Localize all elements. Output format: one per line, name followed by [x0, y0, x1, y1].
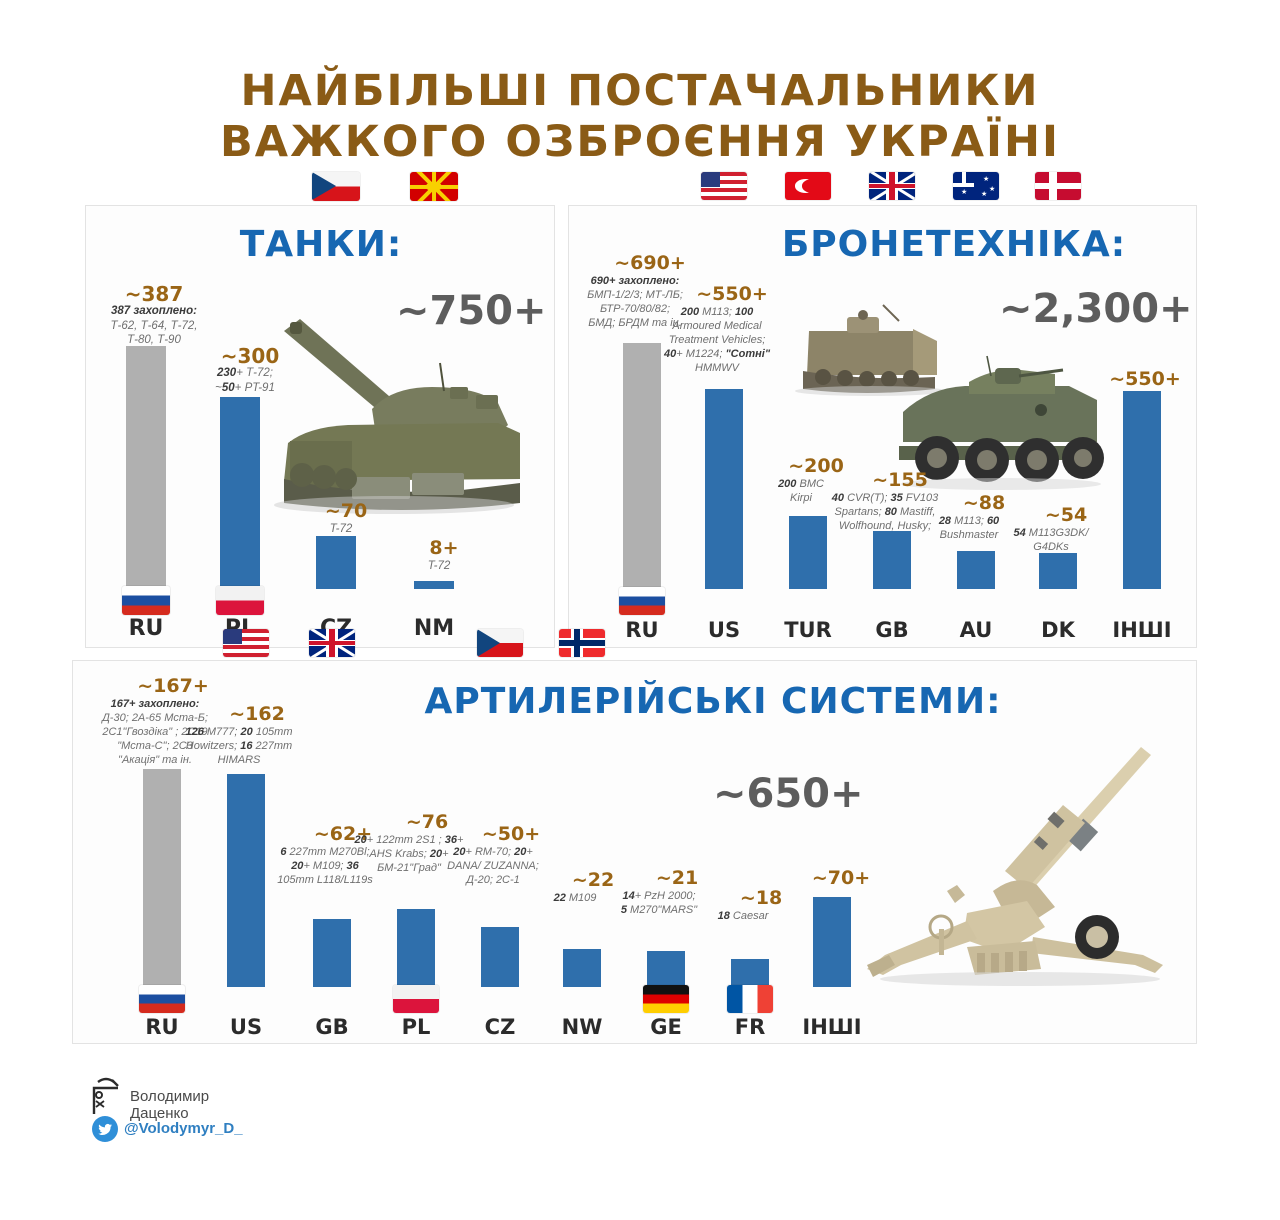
flag-armor-us [701, 172, 747, 200]
twitter-handle[interactable]: @Volodymyr_D_ [124, 1120, 243, 1137]
panel-tanks: ТАНКИ: ~750+ [85, 205, 555, 648]
bar-group-arty-cz: ~50+ 20+ RM-70; 20+DANA/ ZUZANNA;Д-20; 2… [463, 659, 551, 1043]
bar-group-armor-dk: ~54 54 M113G3DK/G4DKs DK [1021, 204, 1111, 647]
bar-group-armor-au: ~88 28 M113; 60Bushmaster ★ ★ ★ ★ AU [939, 204, 1029, 647]
bar-group-armor-gb: ~155 40 CVR(T); 35 FV103Spartans; 80 Mas… [855, 204, 945, 647]
flag-arty-cz [477, 629, 523, 657]
label-armor-other: ІНШІ [1072, 618, 1212, 642]
title-line-1: НАЙБІЛЬШІ ПОСТАЧАЛЬНИКИ [241, 66, 1040, 116]
flag-arty-fr [727, 985, 773, 1013]
bar-armor-au [957, 551, 995, 589]
bar-arty-fr [731, 959, 769, 987]
detail-tanks-nm: T-72 [334, 559, 544, 574]
bars-artillery: ~167+ 167+ захоплено:Д-30; 2А-65 Мста-Б;… [73, 661, 1196, 1043]
flag-arty-ru [139, 985, 185, 1013]
panel-artillery: АРТИЛЕРІЙСЬКІ СИСТЕМИ: ~650+ [72, 660, 1197, 1044]
bar-tanks-pl [220, 397, 260, 589]
bar-armor-other [1123, 391, 1161, 589]
bar-arty-ru [143, 769, 181, 987]
flag-nm [410, 172, 458, 201]
value-arty-other: ~70+ [711, 867, 971, 889]
bar-group-armor-us: ~550+ 200 М113; 100Armoured MedicalTreat… [687, 204, 777, 647]
bar-group-arty-nw: ~22 22 M109 NW [545, 659, 633, 1043]
value-tanks-nm: 8+ [314, 537, 574, 559]
bar-arty-nw [563, 949, 601, 987]
bar-arty-cz [481, 927, 519, 987]
flag-armor-au: ★ ★ ★ ★ [953, 172, 999, 200]
bar-group-arty-fr: ~18 18 Caesar FR [713, 659, 801, 1043]
bar-arty-pl [397, 909, 435, 987]
flag-arty-gb [309, 629, 355, 657]
bar-group-arty-other: ~70+ ІНШІ [795, 659, 883, 1043]
bar-group-tanks-nm: 8+ T-72 NM [392, 204, 492, 647]
value-armor-other: ~550+ [1015, 368, 1275, 390]
bar-armor-dk [1039, 553, 1077, 589]
infographic-canvas: НАЙБІЛЬШІ ПОСТАЧАЛЬНИКИ ВАЖКОГО ОЗБРОЄНН… [0, 0, 1280, 1220]
bar-arty-other [813, 897, 851, 987]
flag-arty-pl [393, 985, 439, 1013]
flag-armor-gb [869, 172, 915, 200]
flag-armor-dk [1035, 172, 1081, 200]
flag-cz [312, 172, 360, 201]
flag-armor-tur [785, 172, 831, 200]
flag-arty-us [223, 629, 269, 657]
bar-group-armor-ru: ~690+ 690+ захоплено:БМП-1/2/3; МТ-ЛБ;БТ… [605, 204, 695, 647]
flag-ru [122, 586, 170, 615]
author-name: Володимир Даценко [130, 1088, 209, 1122]
bar-tanks-nm [414, 581, 454, 589]
bar-group-tanks-pl: ~300 230+ Т-72;~50+ PT-91 PL [198, 204, 298, 647]
twitter-icon[interactable] [92, 1116, 118, 1147]
bars-armor: ~690+ 690+ захоплено:БМП-1/2/3; МТ-ЛБ;БТ… [569, 206, 1196, 647]
flag-arty-ge [643, 985, 689, 1013]
bar-group-arty-ge: ~21 14+ PzH 2000;5 M270"MARS" GE [629, 659, 717, 1043]
bar-group-armor-tur: ~200 200 BMCKirpi TUR [771, 204, 861, 647]
bar-arty-ge [647, 951, 685, 987]
bar-group-tanks-cz: ~70 T-72 CZ [294, 204, 394, 647]
flag-arty-nw [559, 629, 605, 657]
bar-group-tanks-ru: ~387 387 захоплено:Т-62, Т-64, Т-72,Т-80… [104, 204, 204, 647]
flag-armor-ru [619, 587, 665, 615]
bar-armor-ru [623, 343, 661, 589]
page-title: НАЙБІЛЬШІ ПОСТАЧАЛЬНИКИ ВАЖКОГО ОЗБРОЄНН… [0, 66, 1280, 167]
bar-arty-gb [313, 919, 351, 987]
bar-group-armor-other: ~550+ ІНШІ [1105, 204, 1195, 647]
bars-tanks: ~387 387 захоплено:Т-62, Т-64, Т-72,Т-80… [86, 206, 554, 647]
title-line-2: ВАЖКОГО ОЗБРОЄННЯ УКРАЇНІ [0, 117, 1280, 168]
panel-armor: БРОНЕТЕХНІКА: ~2,300+ [568, 205, 1197, 648]
flag-pl [216, 586, 264, 615]
label-arty-other: ІНШІ [762, 1015, 902, 1039]
